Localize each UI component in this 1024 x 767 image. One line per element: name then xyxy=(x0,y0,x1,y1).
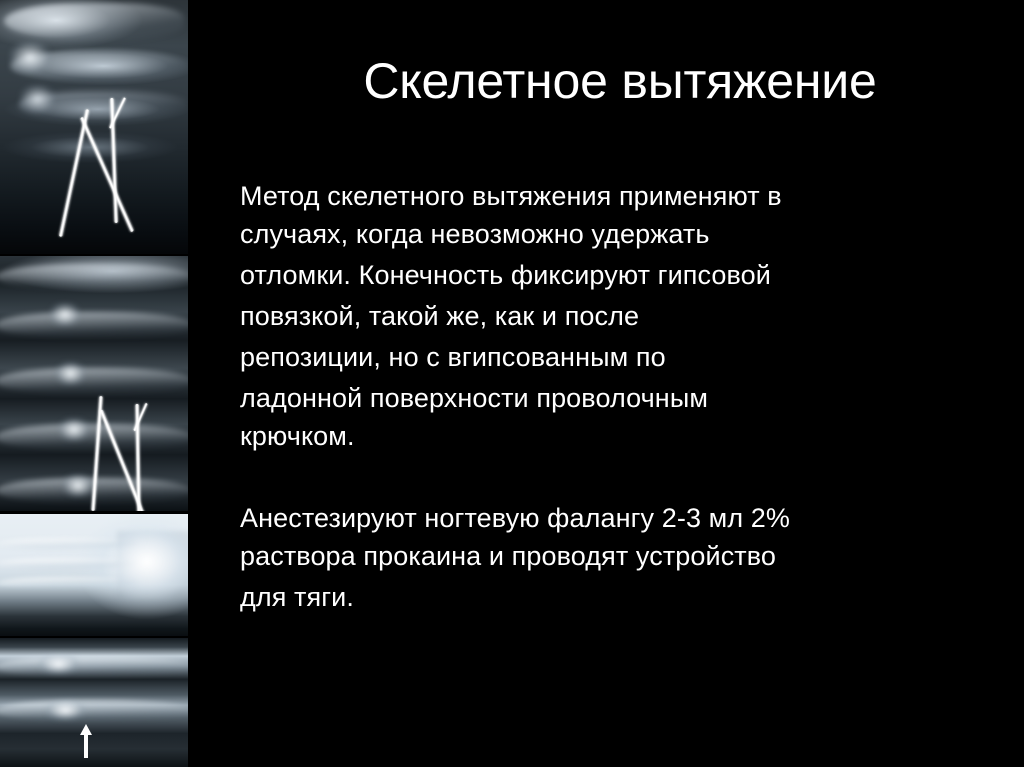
paragraph-2-line: Анестезируют ногтевую фалангу 2-3 мл 2% xyxy=(240,499,980,537)
paragraph-1-line: отломки. Конечность фиксируют гипсовой xyxy=(240,253,980,297)
phalanx-icon xyxy=(0,264,188,290)
xray-wrist-bright xyxy=(0,514,188,636)
phalanx-icon xyxy=(0,424,188,450)
paragraph-2-line: для тяги. xyxy=(240,575,980,619)
joint-head-icon xyxy=(19,84,57,114)
paragraph-1-line: Метод скелетного вытяжения применяют в xyxy=(240,177,980,215)
joint-head-icon xyxy=(38,653,79,675)
paragraph-separator xyxy=(240,455,980,499)
xray-image-column xyxy=(0,0,188,767)
paragraph-1-line: крючком. xyxy=(240,417,980,455)
paragraph-1-line: ладонной поверхности проволочным xyxy=(240,379,980,417)
page-title: Скелетное вытяжение xyxy=(240,52,1000,110)
paragraph-1: Метод скелетного вытяжения применяют в с… xyxy=(240,177,980,455)
xray-4-content xyxy=(0,638,188,767)
phalanx-icon xyxy=(0,312,188,338)
xray-finger-with-arrow-marker xyxy=(0,638,188,767)
joint-head-icon xyxy=(9,41,50,74)
xray-fingers-with-kwires xyxy=(0,256,188,511)
metacarpal-shaft-icon xyxy=(4,3,184,41)
xray-3-content xyxy=(0,514,188,636)
paragraph-1-line: случаях, когда невозможно удержать xyxy=(240,215,980,253)
xray-2-content xyxy=(0,256,188,511)
presentation-slide: Скелетное вытяжение Метод скелетного выт… xyxy=(0,0,1024,767)
paragraph-2-line: раствора прокаина и проводят устройство xyxy=(240,537,980,575)
joint-head-icon xyxy=(55,361,87,387)
slide-body: Метод скелетного вытяжения применяют в с… xyxy=(240,177,980,619)
phalanx-icon xyxy=(0,656,188,677)
joint-head-icon xyxy=(58,417,90,443)
xray-1-content xyxy=(0,0,188,254)
arrow-up-marker-icon xyxy=(80,724,92,758)
joint-head-icon xyxy=(62,473,94,499)
joint-head-icon xyxy=(49,302,81,328)
carpal-bones-icon xyxy=(117,531,188,598)
phalanx-icon xyxy=(0,368,188,394)
paragraph-1-line: повязкой, такой же, как и после xyxy=(240,297,980,335)
arrow-stem xyxy=(84,733,88,758)
xray-hand-with-kwires-ap xyxy=(0,0,188,254)
paragraph-1-line: репозиции, но с вгипсованным по xyxy=(240,335,980,379)
phalanx-icon xyxy=(0,700,188,721)
joint-head-icon xyxy=(45,699,86,721)
paragraph-2: Анестезируют ногтевую фалангу 2-3 мл 2% … xyxy=(240,499,980,619)
slide-content-area: Скелетное вытяжение Метод скелетного выт… xyxy=(188,0,1024,767)
